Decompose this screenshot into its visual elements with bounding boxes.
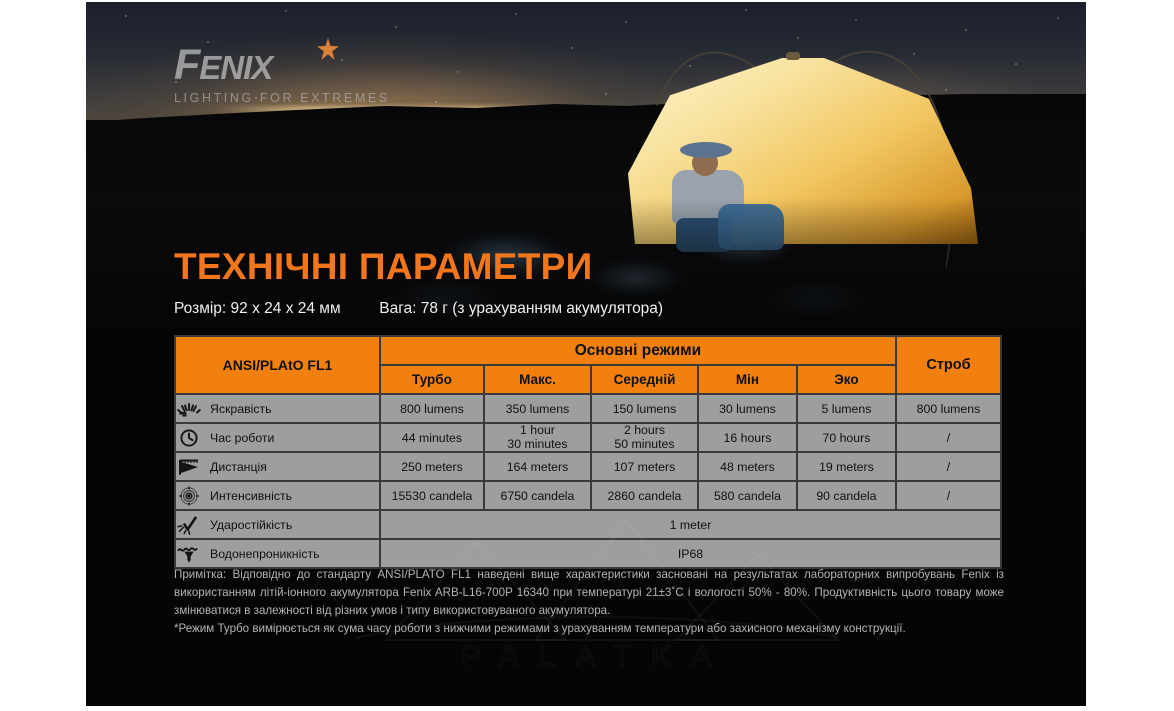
row-value-span: 1 meter xyxy=(381,511,1000,538)
row-label: Дистанція xyxy=(210,460,267,474)
waterproof-drop-icon xyxy=(176,544,202,564)
table-body: Яскравість800 lumens350 lumens150 lumens… xyxy=(176,395,1000,567)
table-row: Интенсивність15530 candela6750 candela28… xyxy=(176,482,1000,509)
fenix-tagline: LIGHTING FOR EXTREMES xyxy=(174,91,404,105)
page-title: ТЕХНІЧНІ ПАРАМЕТРИ xyxy=(174,246,592,288)
fenix-wordmark-f: F xyxy=(174,41,199,89)
row-value-cell: 48 meters xyxy=(699,453,796,480)
row-label-cell: Ударостійкість xyxy=(176,511,379,538)
header-mode-4: Мін xyxy=(699,366,796,393)
row-strobe-cell: 800 lumens xyxy=(897,395,1000,422)
row-value-cell: 2 hours50 minutes xyxy=(592,424,697,451)
row-value-cell: 6750 candela xyxy=(485,482,590,509)
watermark-text: PALATKA xyxy=(326,640,866,674)
size-label: Розмір: 92 x 24 x 24 мм xyxy=(174,300,341,317)
row-value-cell: 16 hours xyxy=(699,424,796,451)
row-label-cell: Водонепроникність xyxy=(176,540,379,567)
row-value-cell: 350 lumens xyxy=(485,395,590,422)
footnote-line-1: Примітка: Відповідно до стандарту ANSI/P… xyxy=(174,566,1004,620)
poster: FENIX LIGHTING FOR EXTREMES ТЕХНІЧНІ ПАР… xyxy=(86,2,1086,706)
row-label: Ударостійкість xyxy=(210,518,292,532)
brightness-sun-icon xyxy=(176,399,202,419)
row-value-cell: 30 lumens xyxy=(699,395,796,422)
row-strobe-cell: / xyxy=(897,453,1000,480)
header-mode-5: Эко xyxy=(798,366,895,393)
fenix-wordmark-rest: ENIX xyxy=(199,49,272,86)
weight-label: Вага: 78 г (з урахуванням акумулятора) xyxy=(379,300,663,317)
table-row: ВодонепроникністьIP68 xyxy=(176,540,1000,567)
row-value-cell: 250 meters xyxy=(381,453,483,480)
header-mode-2: Макс. xyxy=(485,366,590,393)
camper-hat xyxy=(680,142,732,158)
row-value-cell: 15530 candela xyxy=(381,482,483,509)
row-label: Яскравість xyxy=(210,402,272,416)
table-row: Ударостійкість1 meter xyxy=(176,511,1000,538)
row-label: Водонепроникність xyxy=(210,547,320,561)
header-strobe: Строб xyxy=(897,337,1000,393)
row-value-cell: 5 lumens xyxy=(798,395,895,422)
header-main-modes: Основні режими xyxy=(381,337,895,364)
row-value-cell: 70 hours xyxy=(798,424,895,451)
table-header-row-1: ANSI/PLAtO FL1 Основні режими Строб xyxy=(176,337,1000,364)
table-row: Яскравість800 lumens350 lumens150 lumens… xyxy=(176,395,1000,422)
dimensions-weight-line: Розмір: 92 x 24 x 24 мм Вага: 78 г (з ур… xyxy=(174,300,663,318)
row-label: Интенсивність xyxy=(210,489,292,503)
fenix-logo: FENIX LIGHTING FOR EXTREMES xyxy=(174,44,404,102)
row-value-cell: 19 meters xyxy=(798,453,895,480)
table-head: ANSI/PLAtO FL1 Основні режими Строб Турб… xyxy=(176,337,1000,393)
row-label-cell: Дистанція xyxy=(176,453,379,480)
row-strobe-cell: / xyxy=(897,482,1000,509)
fenix-wordmark: FENIX xyxy=(174,44,404,87)
row-label-cell: Интенсивність xyxy=(176,482,379,509)
header-standard: ANSI/PLAtO FL1 xyxy=(176,337,379,393)
row-value-cell: 580 candela xyxy=(699,482,796,509)
footnote: Примітка: Відповідно до стандарту ANSI/P… xyxy=(174,566,1004,638)
row-value-cell: 800 lumens xyxy=(381,395,483,422)
row-label: Час роботи xyxy=(210,431,274,445)
impact-resistance-icon xyxy=(176,515,202,535)
row-value-cell: 90 candela xyxy=(798,482,895,509)
row-label-cell: Яскравість xyxy=(176,395,379,422)
row-value-cell: 2860 candela xyxy=(592,482,697,509)
tent-apex xyxy=(786,52,800,60)
header-mode-3: Середній xyxy=(592,366,697,393)
specifications-table: ANSI/PLAtO FL1 Основні режими Строб Турб… xyxy=(174,335,1002,569)
row-label-cell: Час роботи xyxy=(176,424,379,451)
row-value-cell: 150 lumens xyxy=(592,395,697,422)
header-mode-1: Турбо xyxy=(381,366,483,393)
distance-beam-icon xyxy=(176,457,202,477)
row-value-cell: 1 hour30 minutes xyxy=(485,424,590,451)
row-value-span: IP68 xyxy=(381,540,1000,567)
row-strobe-cell: / xyxy=(897,424,1000,451)
footnote-line-2: *Режим Турбо вимірюється як сума часу ро… xyxy=(174,620,1004,638)
row-value-cell: 164 meters xyxy=(485,453,590,480)
poster-canvas: FENIX LIGHTING FOR EXTREMES ТЕХНІЧНІ ПАР… xyxy=(0,0,1174,711)
row-value-cell: 44 minutes xyxy=(381,424,483,451)
intensity-target-icon xyxy=(176,486,202,506)
table-row: Дистанція250 meters164 meters107 meters4… xyxy=(176,453,1000,480)
runtime-clock-icon xyxy=(176,428,202,448)
table-row: Час роботи44 minutes1 hour30 minutes2 ho… xyxy=(176,424,1000,451)
row-value-cell: 107 meters xyxy=(592,453,697,480)
